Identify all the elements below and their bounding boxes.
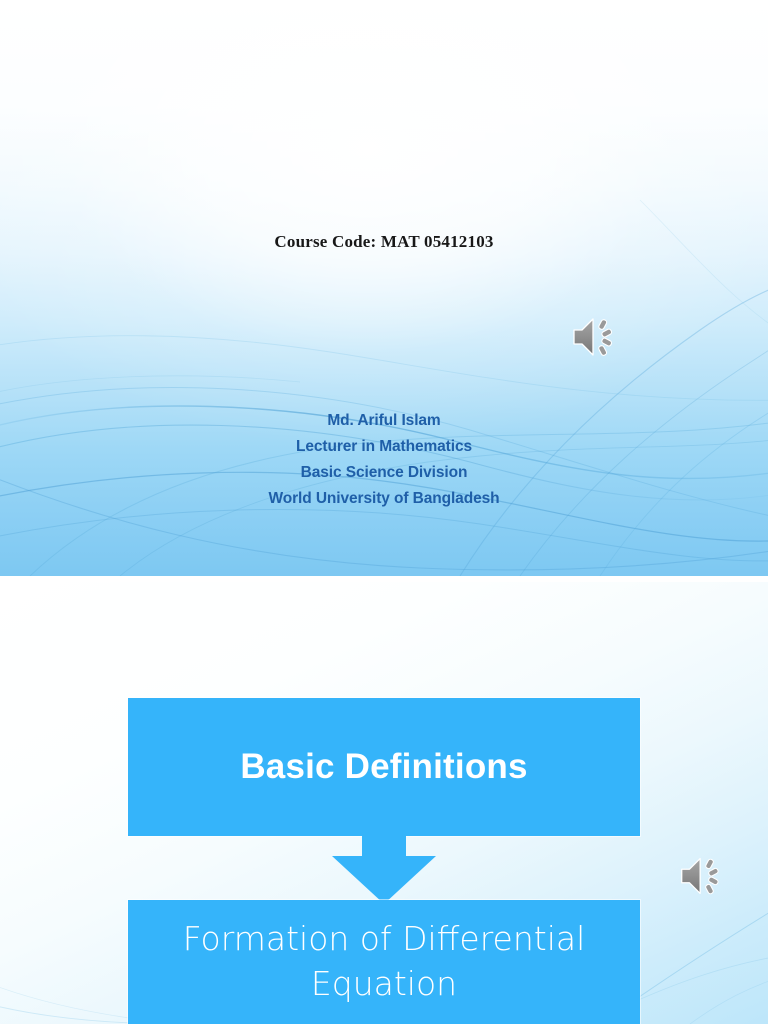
author-name: Md. Ariful Islam bbox=[0, 408, 768, 434]
flow-box-basic-definitions[interactable]: Basic Definitions bbox=[128, 698, 640, 836]
slides-page: Course Code: MAT 05412103 Md. Ariful Isl… bbox=[0, 0, 768, 1024]
flow-box-label: Formation of Differential Equation bbox=[128, 917, 640, 1006]
flow-box-formation-of-differential-equation[interactable]: Formation of Differential Equation bbox=[128, 900, 640, 1024]
flow-box-label: Basic Definitions bbox=[240, 748, 527, 787]
slide-2: Basic Definitions Formation of Different… bbox=[0, 582, 768, 1024]
slide-1: Course Code: MAT 05412103 Md. Ariful Isl… bbox=[0, 0, 768, 576]
author-block: Md. Ariful Islam Lecturer in Mathematics… bbox=[0, 408, 768, 512]
speaker-icon[interactable] bbox=[566, 306, 628, 368]
author-division: Basic Science Division bbox=[0, 460, 768, 486]
down-arrow-icon bbox=[332, 832, 436, 904]
course-code-text: Course Code: MAT 05412103 bbox=[0, 232, 768, 252]
author-institution: World University of Bangladesh bbox=[0, 486, 768, 512]
speaker-icon[interactable] bbox=[674, 846, 734, 906]
author-designation: Lecturer in Mathematics bbox=[0, 434, 768, 460]
